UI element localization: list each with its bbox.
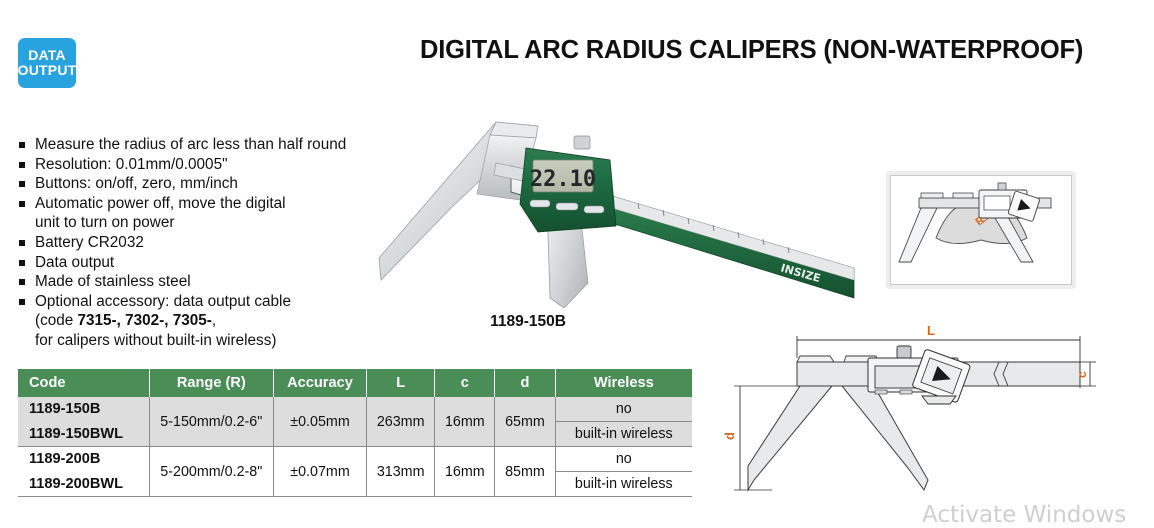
caliper-photo-svg: INSIZE 22.10 xyxy=(378,108,858,308)
cell-accuracy: ±0.05mm xyxy=(273,397,366,447)
inset-beam-notch xyxy=(921,193,943,198)
drawing-button-right xyxy=(900,390,912,394)
list-item: Buttons: on/off, zero, mm/inch xyxy=(16,174,396,194)
inset-left-jaw xyxy=(899,208,937,262)
column-header-code: Code xyxy=(18,369,149,397)
cell-wireless: no xyxy=(555,397,692,422)
bullet-square-icon xyxy=(19,181,25,187)
cell-l: 313mm xyxy=(367,447,435,497)
table-row[interactable]: 1189-150B 5-150mm/0.2-6" ±0.05mm 263mm 1… xyxy=(18,397,692,422)
cell-accuracy: ±0.07mm xyxy=(273,447,366,497)
zero-button[interactable] xyxy=(556,203,578,210)
list-item: Optional accessory: data output cable (c… xyxy=(16,292,396,351)
drawing-thumb-wheel xyxy=(897,346,911,358)
drawing-button-left xyxy=(875,390,887,394)
column-header-wireless: Wireless xyxy=(555,369,692,397)
feature-text: Automatic power off, move the digital xyxy=(35,195,286,212)
cell-l: 263mm xyxy=(367,397,435,447)
drawing-tilt-panel xyxy=(912,349,971,403)
list-item: Resolution: 0.01mm/0.0005" xyxy=(16,155,396,175)
product-photo: INSIZE 22.10 xyxy=(378,108,858,308)
catalog-page: DATA OUTPUT DIGITAL ARC RADIUS CALIPERS … xyxy=(0,0,1154,526)
d-dim-label: d xyxy=(722,432,737,440)
feature-text-cont2: for calipers without built-in wireless) xyxy=(35,332,276,349)
bullet-square-icon xyxy=(19,162,25,168)
feature-text-cont: unit to turn on power xyxy=(35,214,174,231)
column-header-range: Range (R) xyxy=(149,369,273,397)
feature-text: Made of stainless steel xyxy=(35,273,191,290)
feature-text: Battery CR2032 xyxy=(35,234,144,251)
column-header-accuracy: Accuracy xyxy=(273,369,366,397)
data-output-badge: DATA OUTPUT xyxy=(18,38,76,88)
column-header-d: d xyxy=(495,369,555,397)
feature-text: Resolution: 0.01mm/0.0005" xyxy=(35,156,228,173)
column-header-c: c xyxy=(435,369,495,397)
drawing-panel-base xyxy=(922,396,956,404)
bullet-square-icon xyxy=(19,299,25,305)
feature-text: Optional accessory: data output cable xyxy=(35,293,291,310)
bullet-square-icon xyxy=(19,279,25,285)
table-header-row: Code Range (R) Accuracy L c d Wireless xyxy=(18,369,692,397)
cell-d: 65mm xyxy=(495,397,555,447)
cell-wireless: no xyxy=(555,447,692,472)
feature-code-suffix: , xyxy=(212,312,216,329)
cell-c: 16mm xyxy=(435,447,495,497)
cell-c: 16mm xyxy=(435,397,495,447)
bullet-square-icon xyxy=(19,142,25,148)
cell-code: 1189-200BWL xyxy=(18,472,149,497)
mm-inch-button[interactable] xyxy=(584,206,604,213)
feature-text: Buttons: on/off, zero, mm/inch xyxy=(35,175,238,192)
table-body: 1189-150B 5-150mm/0.2-6" ±0.05mm 263mm 1… xyxy=(18,397,692,497)
inset-svg: R xyxy=(891,176,1071,284)
L-dim-label: L xyxy=(927,323,935,338)
bullet-square-icon xyxy=(19,260,25,266)
feature-list: Measure the radius of arc less than half… xyxy=(16,135,396,351)
application-inset: R xyxy=(886,171,1076,289)
dimension-drawing: L c d xyxy=(712,318,1150,508)
table-row[interactable]: 1189-200B 5-200mm/0.2-8" ±0.07mm 313mm 1… xyxy=(18,447,692,472)
feature-text: Measure the radius of arc less than half… xyxy=(35,136,346,153)
bullet-square-icon xyxy=(19,201,25,207)
list-item: Data output xyxy=(16,253,396,273)
drawing-left-jaw xyxy=(748,386,832,490)
cell-code: 1189-150B xyxy=(18,397,149,422)
feature-text: Data output xyxy=(35,254,114,271)
photo-caption: 1189-150B xyxy=(378,313,678,331)
inset-lcd xyxy=(984,196,1010,210)
list-item: Measure the radius of arc less than half… xyxy=(16,135,396,155)
list-item: Made of stainless steel xyxy=(16,272,396,292)
cell-wireless: built-in wireless xyxy=(555,422,692,447)
thumb-wheel xyxy=(574,136,590,149)
cell-wireless: built-in wireless xyxy=(555,472,692,497)
feature-code-prefix: (code xyxy=(35,312,78,329)
onoff-button[interactable] xyxy=(530,200,550,207)
feature-code-list: 7315-, 7302-, 7305- xyxy=(78,312,212,329)
cell-code: 1189-200B xyxy=(18,447,149,472)
inset-thumb-wheel xyxy=(998,183,1006,190)
activate-windows-watermark: Activate Windows xyxy=(922,502,1126,528)
inset-beam-notch2 xyxy=(953,193,973,198)
table-header: Code Range (R) Accuracy L c d Wireless xyxy=(18,369,692,397)
badge-line-1: DATA xyxy=(28,48,66,63)
inset-panel: R xyxy=(890,175,1072,285)
column-header-l: L xyxy=(367,369,435,397)
drawing-right-jaw xyxy=(842,386,928,490)
specification-table: Code Range (R) Accuracy L c d Wireless 1… xyxy=(18,369,692,497)
cell-range: 5-200mm/0.2-8" xyxy=(149,447,273,497)
cell-range: 5-150mm/0.2-6" xyxy=(149,397,273,447)
list-item: Battery CR2032 xyxy=(16,233,396,253)
dimension-drawing-svg: L c d xyxy=(712,318,1150,508)
bullet-square-icon xyxy=(19,240,25,246)
list-item: Automatic power off, move the digital un… xyxy=(16,194,396,233)
drawing-beam-notch-left xyxy=(797,356,834,362)
cell-d: 85mm xyxy=(495,447,555,497)
page-title: DIGITAL ARC RADIUS CALIPERS (NON-WATERPR… xyxy=(420,36,1120,65)
cell-code: 1189-150BWL xyxy=(18,422,149,447)
c-dim-label: c xyxy=(1075,371,1089,378)
badge-line-2: OUTPUT xyxy=(18,63,77,78)
lcd-value: 22.10 xyxy=(530,167,596,192)
